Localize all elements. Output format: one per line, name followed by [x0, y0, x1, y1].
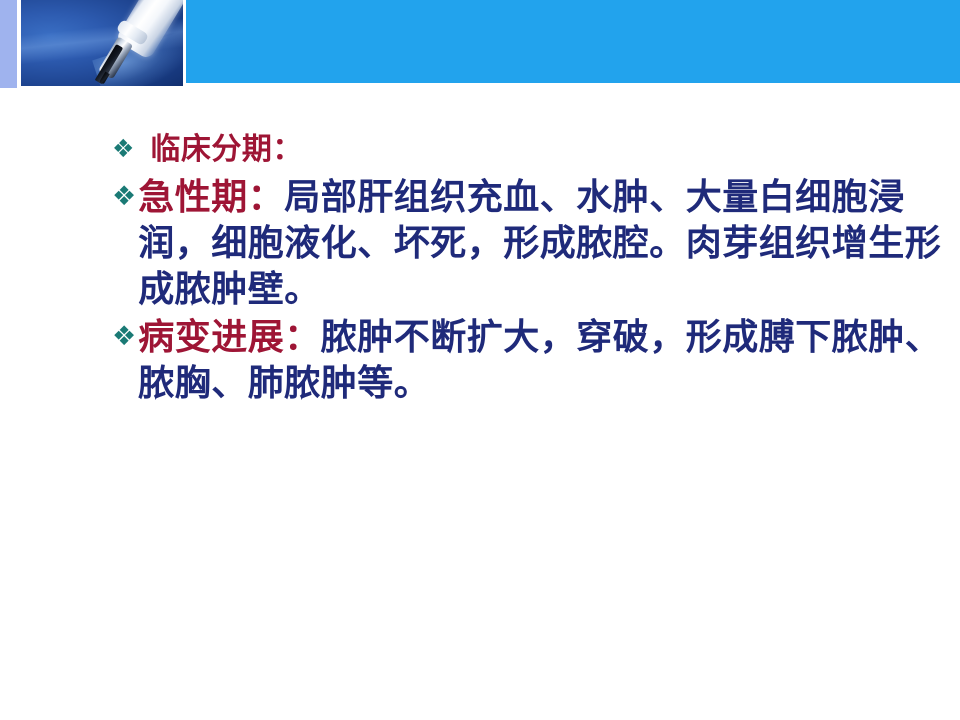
header-syringe-photo [21, 0, 183, 86]
header-left-accent-strip [0, 0, 17, 88]
list-item-acute-phase: ❖ 急性期：局部肝组织充血、水肿、大量白细胞浸润，细胞液化、坏死，形成脓腔。肉芽… [112, 174, 942, 312]
acute-phase-kicker: 急性期： [138, 176, 284, 218]
bullet-list: ❖ 临床分期： ❖ 急性期：局部肝组织充血、水肿、大量白细胞浸润，细胞液化、坏死… [112, 130, 942, 406]
slide-body: ❖ 临床分期： ❖ 急性期：局部肝组织充血、水肿、大量白细胞浸润，细胞液化、坏死… [0, 88, 960, 720]
list-item-lesion-progress: ❖ 病变进展：脓肿不断扩大，穿破，形成膊下脓肿、脓胸、肺脓肿等。 [112, 314, 942, 406]
list-item-clinical-staging: ❖ 临床分期： [112, 130, 942, 170]
acute-phase-paragraph: 急性期：局部肝组织充血、水肿、大量白细胞浸润，细胞液化、坏死，形成脓腔。肉芽组织… [108, 174, 942, 312]
clinical-staging-paragraph: 临床分期： [150, 130, 303, 170]
lesion-progress-kicker: 病变进展： [138, 316, 321, 358]
slide-header [0, 0, 960, 90]
diamond-bullet-icon: ❖ [112, 130, 134, 161]
lesion-progress-paragraph: 病变进展：脓肿不断扩大，穿破，形成膊下脓肿、脓胸、肺脓肿等。 [104, 314, 942, 406]
clinical-staging-kicker: 临床分期： [150, 132, 303, 167]
header-blue-band [186, 0, 960, 83]
